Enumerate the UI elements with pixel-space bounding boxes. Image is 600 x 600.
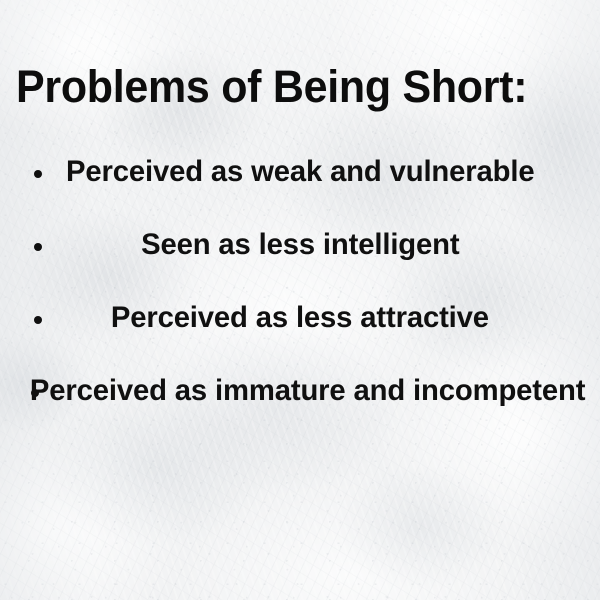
page-title: Problems of Being Short:	[16, 62, 527, 112]
bullet-list: Perceived as weak and vulnerable Seen as…	[0, 150, 600, 442]
slide-canvas: Problems of Being Short: Perceived as we…	[0, 0, 600, 600]
list-item: Seen as less intelligent	[0, 223, 600, 296]
list-item-label: Seen as less intelligent	[141, 223, 459, 262]
list-item: Perceived as less attractive	[0, 296, 600, 369]
list-item: Perceived as weak and vulnerable	[0, 150, 600, 223]
bullet-dot-icon	[34, 316, 42, 324]
list-item-label: Perceived as weak and vulnerable	[66, 150, 534, 189]
list-item: Perceived as immature and incompetent	[0, 369, 600, 442]
list-item-label: Perceived as less attractive	[111, 296, 489, 335]
slide-content: Problems of Being Short: Perceived as we…	[0, 0, 600, 600]
bullet-dot-icon	[34, 243, 42, 251]
bullet-dot-icon	[34, 170, 42, 178]
list-item-label: Perceived as immature and incompetent	[14, 369, 585, 408]
